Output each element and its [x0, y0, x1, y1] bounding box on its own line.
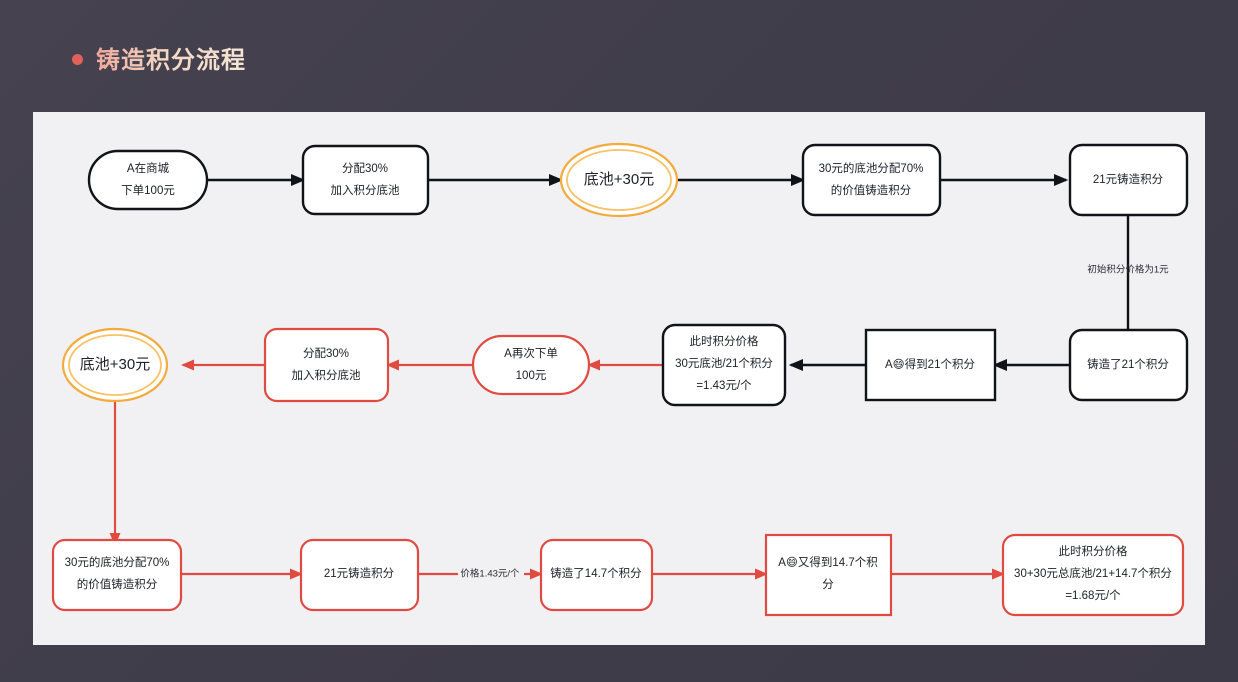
node-n7-line0: A😄得到21个积分 [885, 358, 975, 371]
node-n9-line0: A再次下单 [504, 346, 558, 360]
node-n12[interactable]: 30元的底池分配70% 的价值铸造积分 [53, 540, 181, 610]
node-n9-line1: 100元 [516, 370, 547, 382]
node-n2-line0: 分配30% [342, 162, 388, 175]
node-n6-line0: 铸造了21个积分 [1087, 357, 1169, 371]
node-n16-line1: 30+30元总底池/21+14.7个积分 [1014, 566, 1172, 580]
node-n2-line1: 加入积分底池 [331, 183, 400, 197]
node-n5-line0: 21元铸造积分 [1093, 172, 1164, 186]
node-n13-line0: 21元铸造积分 [324, 566, 395, 580]
node-n4-line0: 30元的底池分配70% [819, 161, 924, 175]
node-n8-line1: 30元底池/21个积分 [675, 356, 773, 370]
node-n16[interactable]: 此时积分价格 30+30元总底池/21+14.7个积分 =1.68元/个 [1003, 535, 1183, 615]
node-n16-line2: =1.68元/个 [1065, 589, 1121, 602]
node-n3[interactable]: 底池+30元 [561, 144, 677, 216]
node-n4-line1: 的价值铸造积分 [831, 183, 912, 197]
node-n1-line1: 下单100元 [121, 184, 175, 197]
node-n14[interactable]: 铸造了14.7个积分 [541, 540, 652, 610]
node-n10[interactable]: 分配30% 加入积分底池 [265, 329, 388, 401]
node-n10-line0: 分配30% [303, 347, 349, 360]
slide-root: 铸造积分流程 A在商城 [0, 0, 1238, 682]
node-n9[interactable]: A再次下单 100元 [473, 336, 589, 394]
edge-label-unit-price: 价格1.43元/个 [460, 568, 520, 580]
node-n12-line0: 30元的底池分配70% [65, 555, 170, 569]
flowchart-canvas: A在商城 下单100元 分配30% 加入积分底池 底池+30元 30元的底池分配… [33, 112, 1205, 645]
node-n15[interactable]: A😄又得到14.7个积 分 [766, 535, 891, 615]
node-n16-line0: 此时积分价格 [1059, 544, 1128, 558]
node-n2[interactable]: 分配30% 加入积分底池 [303, 146, 428, 214]
node-n11[interactable]: 底池+30元 [63, 329, 167, 401]
edge-label-init-price: 初始积分价格为1元 [1087, 264, 1169, 276]
node-n8[interactable]: 此时积分价格 30元底池/21个积分 =1.43元/个 [663, 325, 785, 405]
node-n14-line0: 铸造了14.7个积分 [550, 566, 642, 580]
node-n5[interactable]: 21元铸造积分 [1070, 145, 1187, 215]
node-n11-line0: 底池+30元 [80, 356, 150, 373]
node-n12-line1: 的价值铸造积分 [77, 577, 158, 591]
node-n6[interactable]: 铸造了21个积分 [1070, 330, 1187, 400]
node-n8-line2: =1.43元/个 [696, 379, 752, 392]
bullet-dot-icon [72, 54, 83, 65]
node-n15-line1: 分 [822, 578, 834, 591]
node-n1[interactable]: A在商城 下单100元 [89, 151, 207, 209]
node-n3-line0: 底池+30元 [584, 171, 654, 188]
node-n13[interactable]: 21元铸造积分 [301, 540, 418, 610]
page-title-text: 铸造积分流程 [96, 40, 246, 75]
node-n4[interactable]: 30元的底池分配70% 的价值铸造积分 [803, 145, 940, 215]
node-n1-line0: A在商城 [127, 161, 170, 175]
page-title: 铸造积分流程 [72, 40, 246, 75]
node-n7[interactable]: A😄得到21个积分 [866, 330, 995, 400]
node-n10-line1: 加入积分底池 [292, 368, 361, 382]
node-n15-line0: A😄又得到14.7个积 [778, 556, 878, 569]
node-n8-line0: 此时积分价格 [690, 334, 759, 348]
